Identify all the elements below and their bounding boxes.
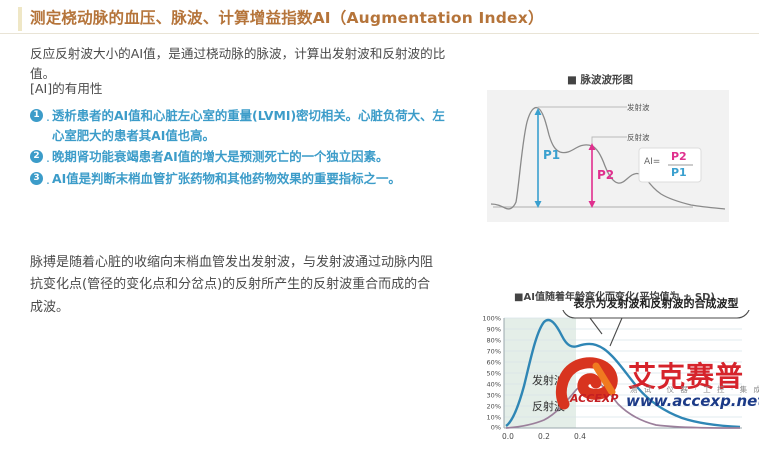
bullet-dot: . [44,170,52,190]
composite-wave-svg: 100% 90% 80% 70% 60% 50% 40% 30% 20% 10%… [470,310,759,470]
svg-text:50%: 50% [487,370,501,378]
svg-text:40%: 40% [487,381,501,389]
left-content-column: 反应反射波大小的AI值，是通过桡动脉的脉波，计算出发射波和反射波的比值。 [AI… [0,40,462,412]
formula-prefix-label: AI= [644,157,660,167]
list-item-label: AI值是判断末梢血管扩张药物和其他药物效果的重要指标之一。 [52,169,450,189]
emitted-leader-line [538,107,627,112]
svg-text:60%: 60% [487,359,501,367]
svg-text:0.2: 0.2 [538,432,550,441]
bullet-dot: . [44,148,52,168]
callout-bubble [562,310,750,318]
right-figures-column: ■ 脉波波形图 发射波 反射波 P1 P2 AI [470,60,759,412]
ai-usefulness-list: 1 . 透析患者的AI值和心脏左心室的重量(LVMI)密切相关。心脏负荷大、左心… [30,106,450,191]
list-item: 2 . 晚期肾功能衰竭患者AI值的增大是预测死亡的一个独立因素。 [30,147,450,168]
p2-label: P2 [597,168,614,182]
x-tick-labels: 0.0 0.2 0.4 [502,432,586,441]
body-paragraph: 脉搏是随着心脏的收缩向末梢血管发出发射波，与发射波通过动脉内阻抗变化点(管径的变… [30,252,440,319]
list-item-label: 透析患者的AI值和心脏左心室的重量(LVMI)密切相关。心脏负荷大、左心室肥大的… [52,106,450,146]
list-item-label: 晚期肾功能衰竭患者AI值的增大是预测死亡的一个独立因素。 [52,147,450,167]
svg-text:90%: 90% [487,326,501,334]
formula-numerator-label: P2 [671,150,687,163]
header-accent-bar [18,7,22,31]
bullet-number-icon: 2 [30,150,43,163]
svg-text:0.0: 0.0 [502,432,514,441]
svg-text:20%: 20% [487,403,501,411]
svg-text:100%: 100% [482,315,501,323]
page-title: 测定桡动脉的血压、脉波、计算增益指数AI（Augmentation Index） [30,6,544,28]
pulse-waveform-caption: ■ 脉波波形图 [470,72,730,87]
svg-text:70%: 70% [487,348,501,356]
svg-text:0%: 0% [491,424,501,432]
pulse-waveform-chart: 发射波 反射波 P1 P2 AI= P2 P1 [487,90,729,222]
composite-wave-chart: 100% 90% 80% 70% 60% 50% 40% 30% 20% 10%… [470,310,759,470]
list-item: 3 . AI值是判断末梢血管扩张药物和其他药物效果的重要指标之一。 [30,169,450,190]
y-tick-labels: 100% 90% 80% 70% 60% 50% 40% 30% 20% 10%… [482,315,501,432]
pulse-waveform-svg [487,90,729,222]
header-divider [0,33,759,34]
callout-label: 表示为发射波和反射波的合成波型 [570,295,742,311]
bullet-number-icon: 1 [30,109,43,122]
bullet-number-icon: 3 [30,172,43,185]
p1-label: P1 [543,148,560,162]
emitted-wave-series-label: 发射波 [532,372,565,388]
svg-text:10%: 10% [487,414,501,422]
reflected-leader-line [592,137,627,145]
formula-denominator-label: P1 [671,166,687,179]
svg-text:0.4: 0.4 [574,432,586,441]
svg-text:80%: 80% [487,337,501,345]
section-label-ai-usefulness: [AI]的有用性 [30,78,103,97]
bullet-dot: . [44,107,52,127]
reflected-wave-annotation: 反射波 [627,132,650,143]
page-header: 测定桡动脉的血压、脉波、计算增益指数AI（Augmentation Index） [0,6,759,34]
p2-arrow-head-up [589,143,596,150]
svg-text:30%: 30% [487,392,501,400]
list-item: 1 . 透析患者的AI值和心脏左心室的重量(LVMI)密切相关。心脏负荷大、左心… [30,106,450,146]
emitted-wave-annotation: 发射波 [627,102,650,113]
